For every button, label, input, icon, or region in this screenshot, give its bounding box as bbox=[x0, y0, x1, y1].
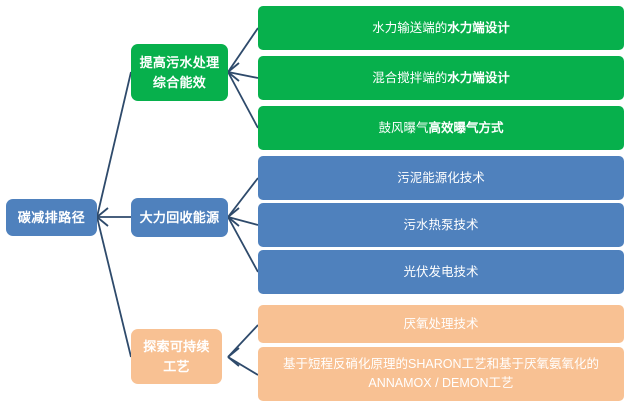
leaf-node-label: 厌氧处理技术 bbox=[403, 316, 478, 333]
mindmap-diagram: 碳减排路径 提高污水处理综合能效 大力回收能源 探索可持续工艺 水力输送端的水力… bbox=[0, 0, 630, 413]
root-node-label: 碳减排路径 bbox=[18, 209, 86, 227]
leaf-text-line2: ANNAMOX / DEMON工艺 bbox=[368, 376, 513, 390]
leaf-node-anaerobic-treatment[interactable]: 厌氧处理技术 bbox=[258, 305, 624, 343]
leaf-node-label: 污泥能源化技术 bbox=[397, 170, 485, 187]
leaf-text-normal: 厌氧处理技术 bbox=[403, 317, 478, 331]
branch-node-sustainable-process[interactable]: 探索可持续工艺 bbox=[131, 329, 222, 384]
leaf-text-bold: 水力端设计 bbox=[447, 21, 510, 35]
leaf-node-label: 混合搅拌端的水力端设计 bbox=[372, 70, 510, 87]
leaf-text-normal: 鼓风曝气 bbox=[378, 121, 428, 135]
leaf-node-hydraulic-transport[interactable]: 水力输送端的水力端设计 bbox=[258, 6, 624, 50]
leaf-node-label: 水力输送端的水力端设计 bbox=[372, 20, 510, 37]
leaf-node-label: 污水热泵技术 bbox=[403, 217, 478, 234]
leaf-node-sludge-energy[interactable]: 污泥能源化技术 bbox=[258, 156, 624, 200]
leaf-node-mixing-stirring[interactable]: 混合搅拌端的水力端设计 bbox=[258, 56, 624, 100]
leaf-text-normal: 混合搅拌端的 bbox=[372, 71, 447, 85]
leaf-text-bold: 水力端设计 bbox=[447, 71, 510, 85]
leaf-text-normal: 光伏发电技术 bbox=[403, 265, 478, 279]
branch-node-energy-efficiency[interactable]: 提高污水处理综合能效 bbox=[131, 44, 228, 101]
branch-node-energy-recovery[interactable]: 大力回收能源 bbox=[131, 198, 228, 237]
leaf-node-sharon-annamox-demon[interactable]: 基于短程反硝化原理的SHARON工艺和基于厌氧氨氧化的 ANNAMOX / DE… bbox=[258, 347, 624, 401]
leaf-node-label: 光伏发电技术 bbox=[403, 264, 478, 281]
branch-node-label: 大力回收能源 bbox=[140, 209, 220, 227]
leaf-node-wastewater-heat-pump[interactable]: 污水热泵技术 bbox=[258, 203, 624, 247]
leaf-node-label: 鼓风曝气高效曝气方式 bbox=[378, 120, 503, 137]
leaf-node-photovoltaic[interactable]: 光伏发电技术 bbox=[258, 250, 624, 294]
leaf-text-line1: 基于短程反硝化原理的SHARON工艺和基于厌氧氨氧化的 bbox=[283, 357, 599, 371]
branch-node-label: 提高污水处理综合能效 bbox=[137, 53, 222, 92]
root-node-carbon-reduction-path[interactable]: 碳减排路径 bbox=[6, 199, 97, 236]
leaf-text-normal: 污水热泵技术 bbox=[403, 218, 478, 232]
leaf-node-label: 基于短程反硝化原理的SHARON工艺和基于厌氧氨氧化的 ANNAMOX / DE… bbox=[283, 355, 599, 393]
leaf-text-normal: 污泥能源化技术 bbox=[397, 171, 485, 185]
leaf-node-blower-aeration[interactable]: 鼓风曝气高效曝气方式 bbox=[258, 106, 624, 150]
branch-node-label: 探索可持续工艺 bbox=[137, 337, 216, 376]
leaf-text-bold: 高效曝气方式 bbox=[429, 121, 504, 135]
leaf-text-normal: 水力输送端的 bbox=[372, 21, 447, 35]
